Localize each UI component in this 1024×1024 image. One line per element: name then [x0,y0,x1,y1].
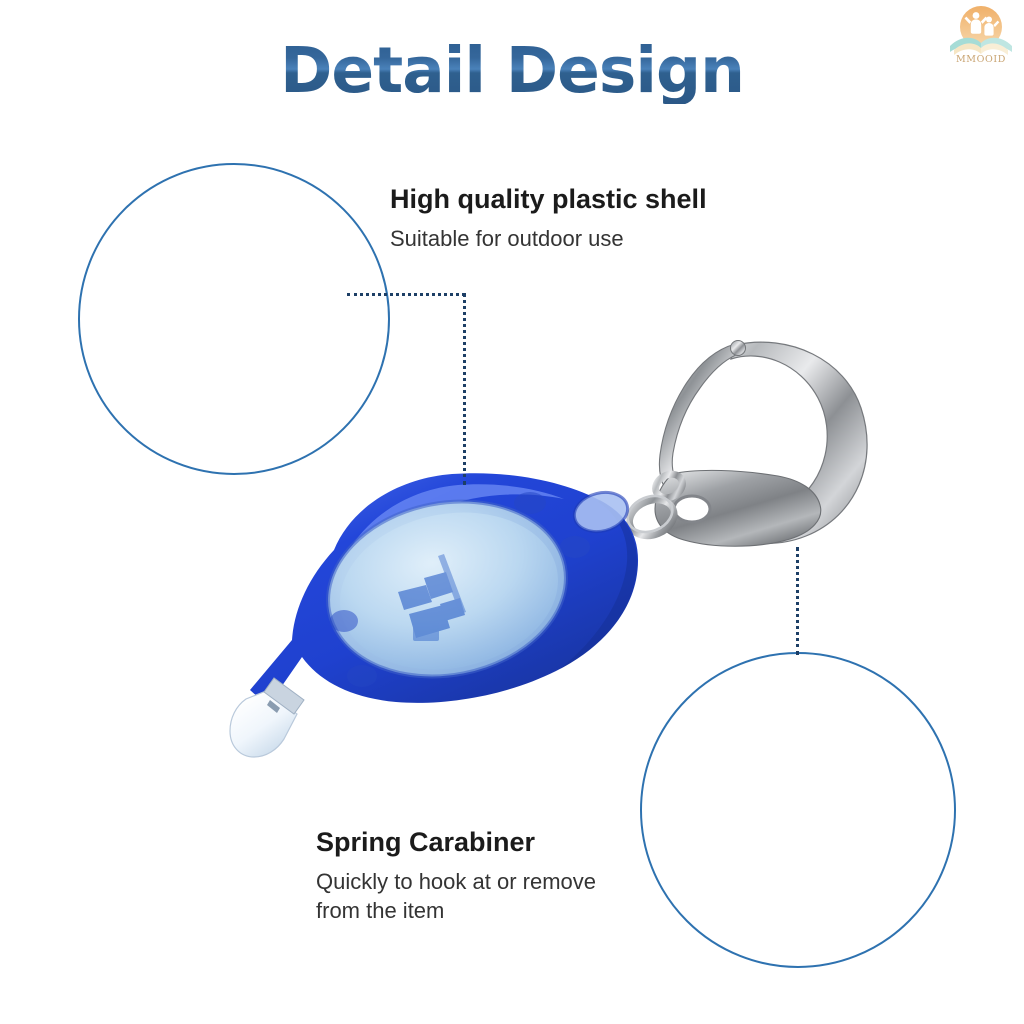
inset-circle-spring-carabiner [640,652,956,968]
callout-spring-carabiner: Spring Carabiner Quickly to hook at or r… [316,826,636,925]
callout-heading-shell: High quality plastic shell [390,183,707,217]
led-bulb [230,678,304,757]
page-title: Detail Design [0,38,1024,104]
leader-line-carabiner-vertical [796,547,799,655]
callout-subtext-carabiner: Quickly to hook at or remove from the it… [316,867,636,925]
plastic-shell-closeup-icon [80,165,388,473]
shell-body [250,473,638,706]
callout-subtext-shell: Suitable for outdoor use [390,224,707,253]
main-carabiner [622,341,867,547]
keyring-hole [570,487,632,537]
callout-plastic-shell: High quality plastic shell Suitable for … [390,183,707,253]
internal-circuit [398,554,466,641]
leader-line-shell-vertical [463,293,466,485]
product-detail-page: MMOOID Detail Design [0,0,1024,1024]
inset-circle-plastic-shell [78,163,390,475]
lens-window [313,482,581,697]
callout-heading-carabiner: Spring Carabiner [316,826,636,860]
leader-line-shell-horizontal [347,293,465,296]
spring-carabiner-closeup-icon [642,654,954,966]
